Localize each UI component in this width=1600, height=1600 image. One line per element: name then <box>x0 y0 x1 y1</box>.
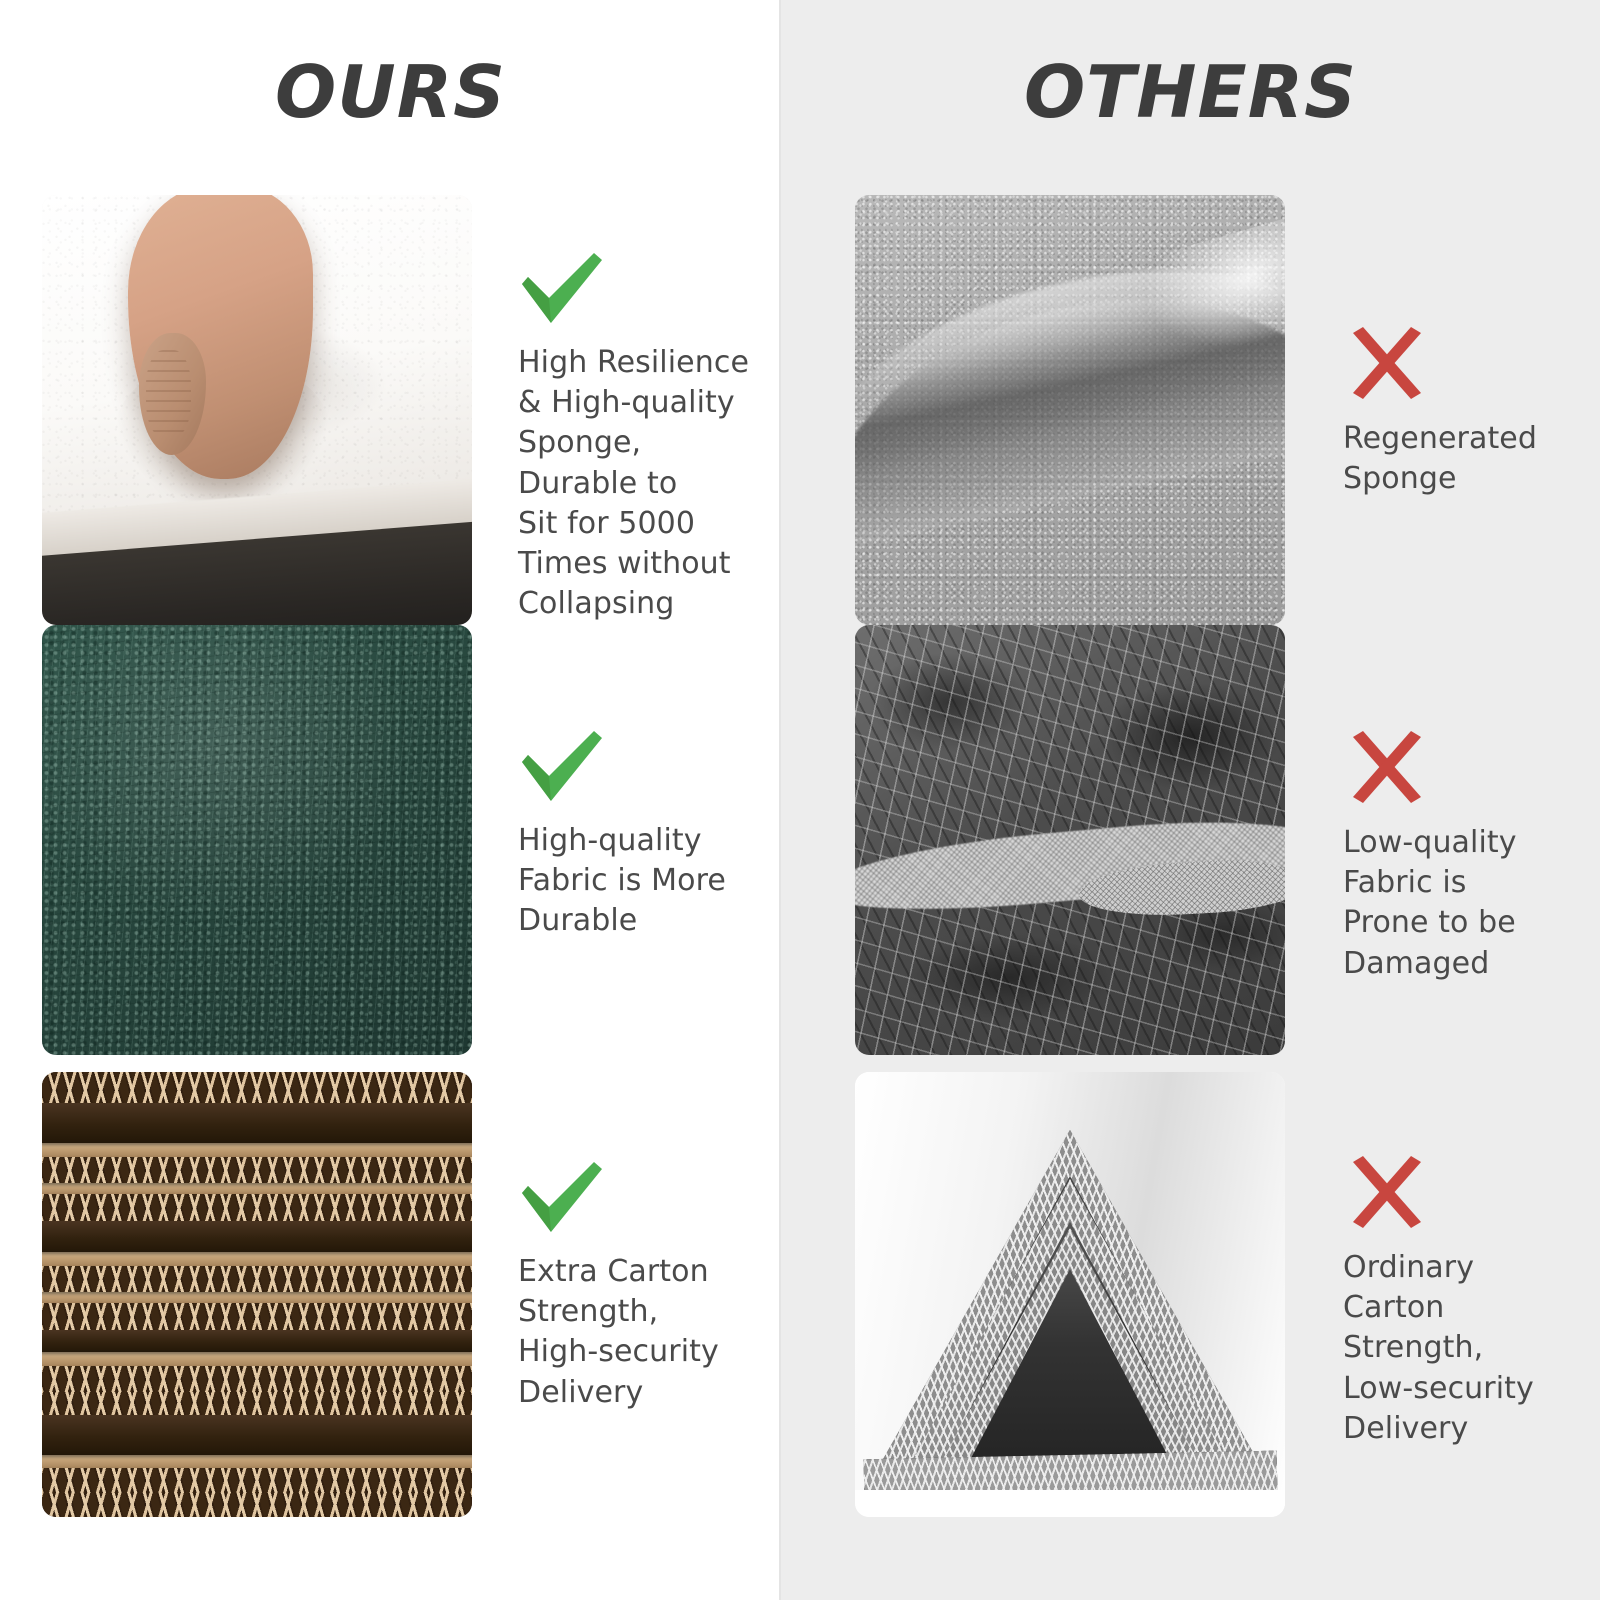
cross-icon <box>1343 327 1431 405</box>
others-row-3: Ordinary Carton Strength, Low-security D… <box>855 1072 1600 1532</box>
comparison-infographic: OURS <box>0 0 1600 1600</box>
check-icon <box>518 729 606 807</box>
others-panel: OTHERS Regenerated S <box>781 0 1600 1600</box>
ours-row-2: High-quality Fabric is More Durable <box>42 625 823 1072</box>
others-row-1: Regenerated Sponge <box>855 195 1600 625</box>
corrugated-cardboard-layers-photo <box>42 1072 472 1517</box>
ours-row-1: High Resilience & High-quality Sponge, D… <box>42 195 823 625</box>
others-caption-2: Low-quality Fabric is Prone to be Damage… <box>1343 823 1600 984</box>
others-caption-3: Ordinary Carton Strength, Low-security D… <box>1343 1248 1600 1449</box>
ours-verdict-2: High-quality Fabric is More Durable <box>472 625 823 942</box>
check-icon <box>518 1160 606 1238</box>
others-verdict-1: Regenerated Sponge <box>1285 195 1600 499</box>
hand-pressing-white-foam-photo <box>42 195 472 625</box>
ours-row-3: Extra Carton Strength, High-security Del… <box>42 1072 823 1532</box>
ours-caption-1: High Resilience & High-quality Sponge, D… <box>518 343 807 624</box>
green-leather-fabric-photo <box>42 625 472 1055</box>
gray-regenerated-sponge-photo <box>855 195 1285 625</box>
cracked-gray-fabric-photo <box>855 625 1285 1055</box>
others-verdict-2: Low-quality Fabric is Prone to be Damage… <box>1285 625 1600 984</box>
ours-heading: OURS <box>0 56 821 128</box>
gray-folded-carton-photo <box>855 1072 1285 1517</box>
cross-icon <box>1343 731 1431 809</box>
others-rows: Regenerated Sponge <box>781 195 1600 1532</box>
ours-panel: OURS <box>0 0 781 1600</box>
ours-verdict-3: Extra Carton Strength, High-security Del… <box>472 1072 823 1413</box>
others-verdict-3: Ordinary Carton Strength, Low-security D… <box>1285 1072 1600 1449</box>
others-caption-1: Regenerated Sponge <box>1343 419 1600 499</box>
panel-divider <box>779 0 781 1600</box>
others-row-2: Low-quality Fabric is Prone to be Damage… <box>855 625 1600 1072</box>
ours-caption-3: Extra Carton Strength, High-security Del… <box>518 1252 807 1413</box>
ours-rows: High Resilience & High-quality Sponge, D… <box>0 195 823 1532</box>
check-icon <box>518 251 606 329</box>
others-heading: OTHERS <box>781 56 1600 128</box>
ours-caption-2: High-quality Fabric is More Durable <box>518 821 807 942</box>
cross-icon <box>1343 1156 1431 1234</box>
ours-verdict-1: High Resilience & High-quality Sponge, D… <box>472 195 823 624</box>
